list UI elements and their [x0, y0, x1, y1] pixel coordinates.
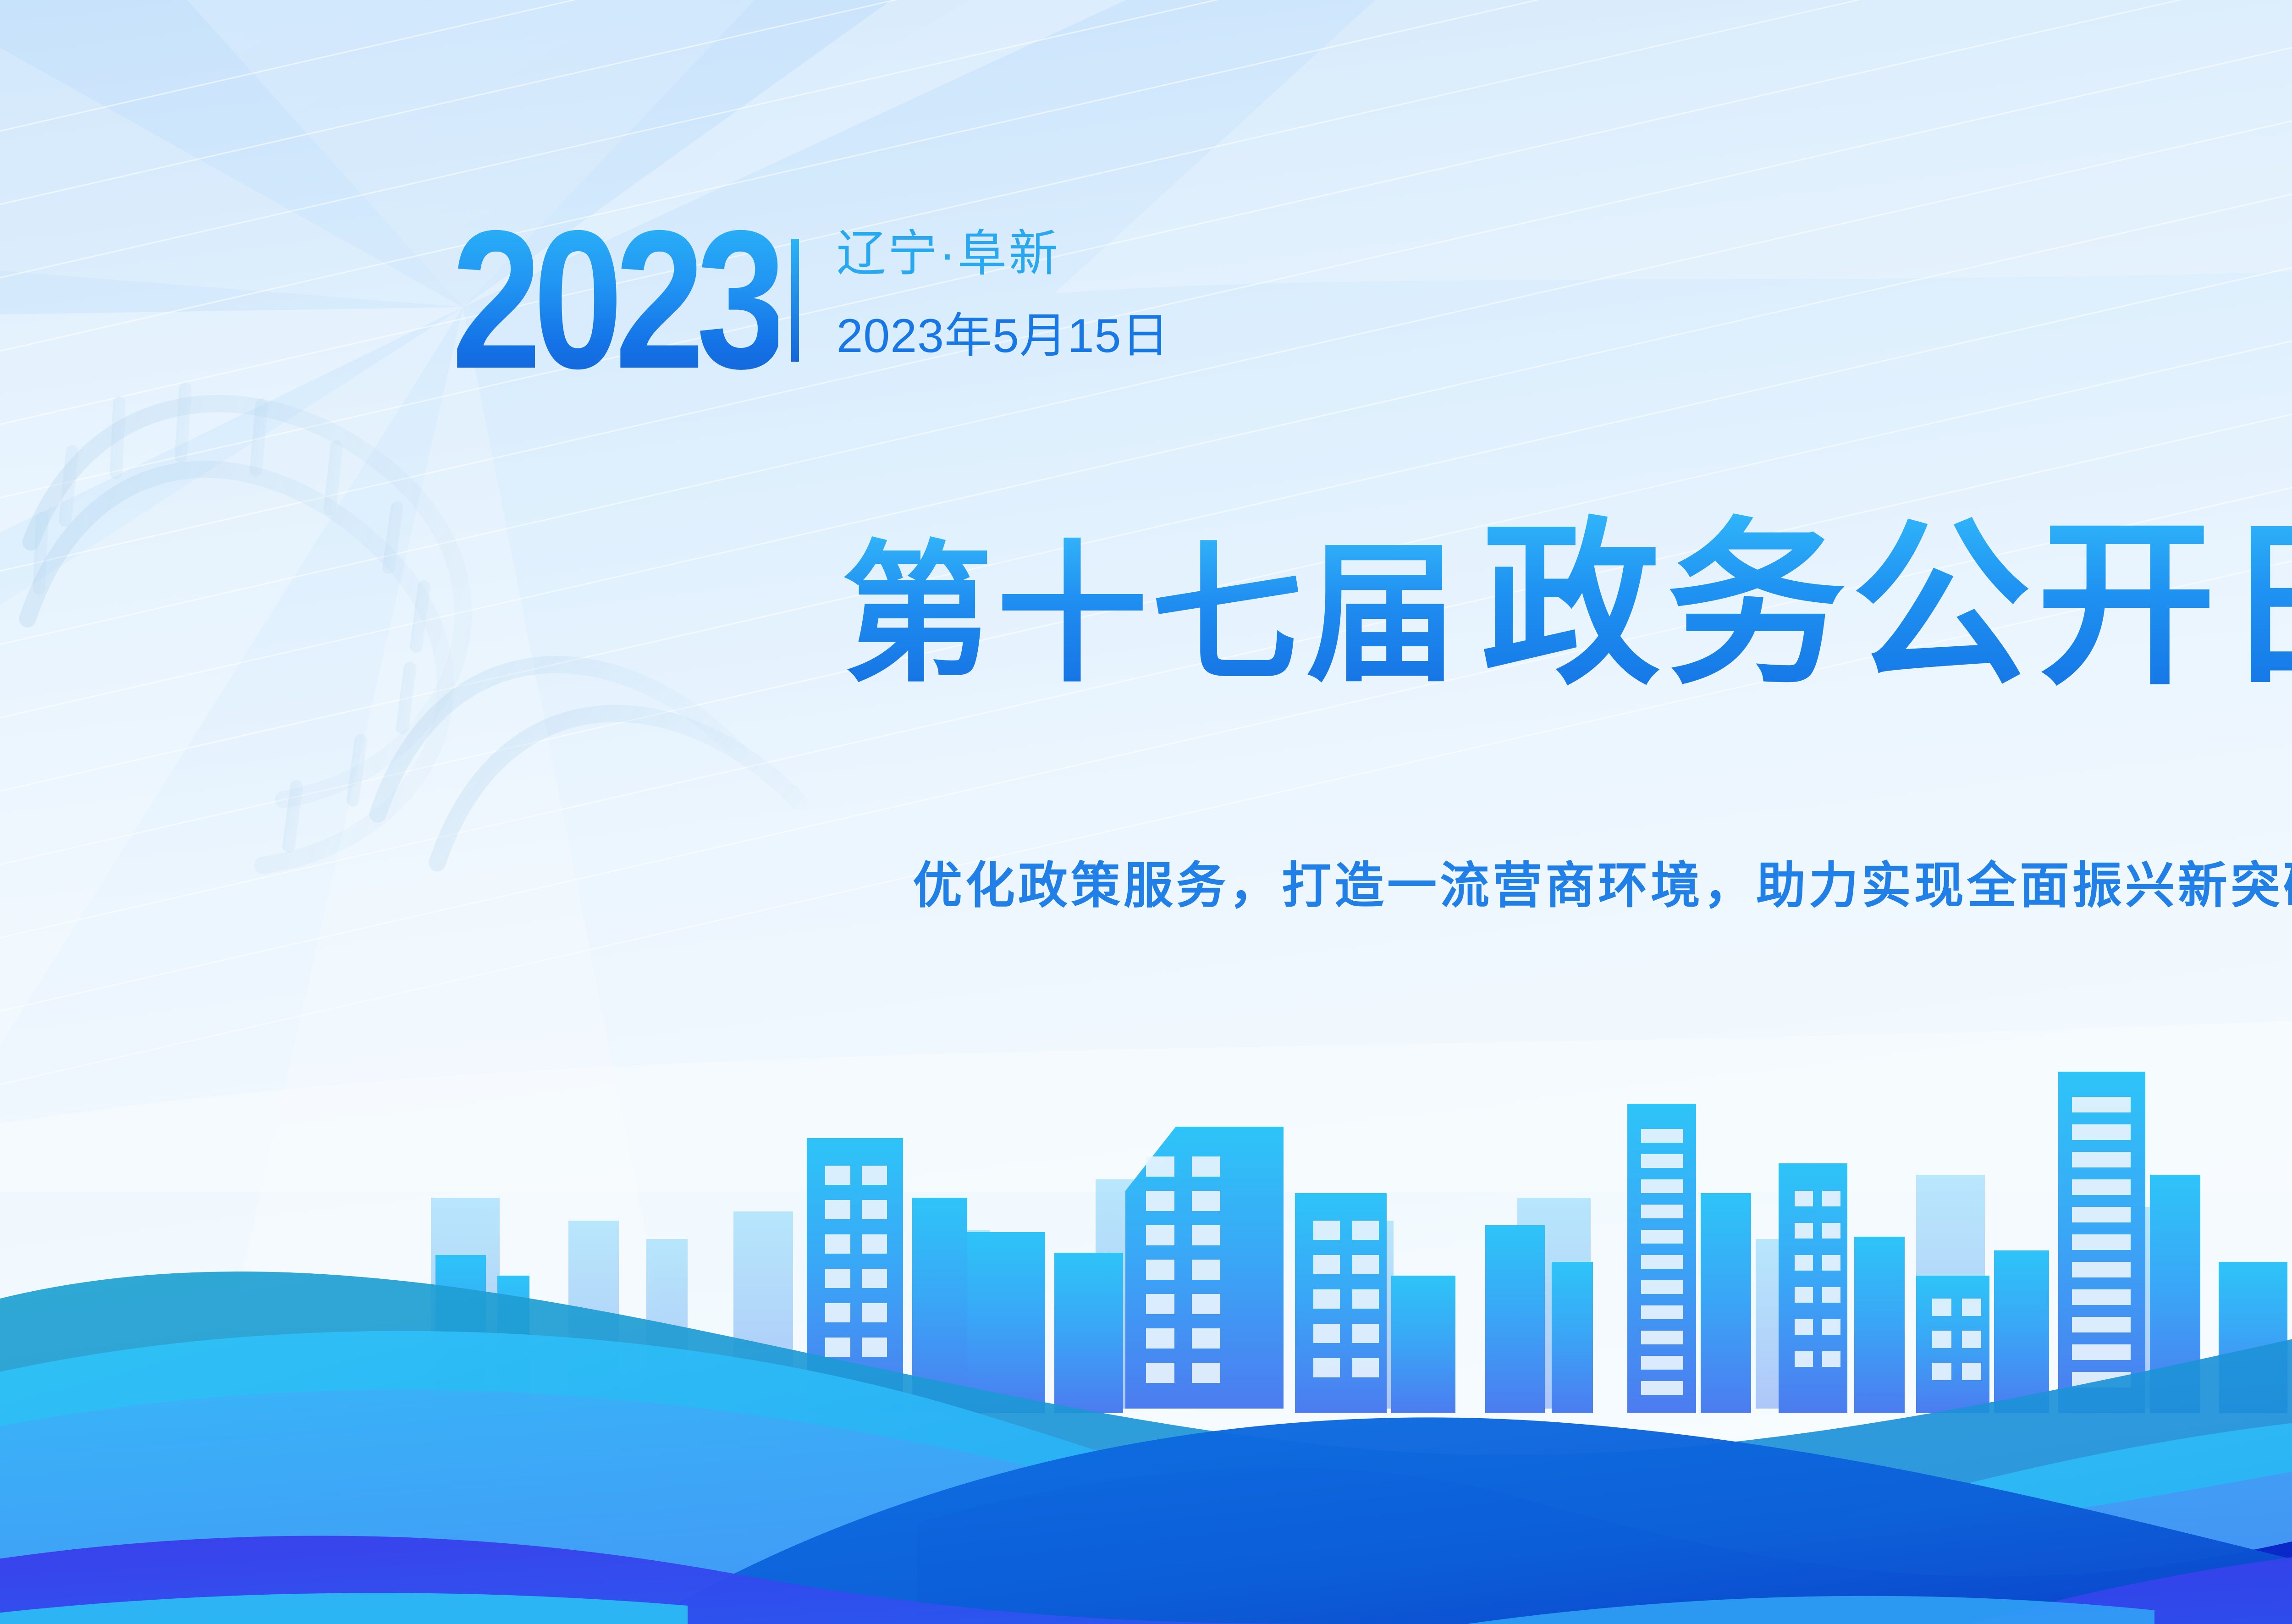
title-edition: 第十七届	[842, 530, 1461, 699]
event-location: 辽宁·阜新	[837, 229, 1170, 278]
page-title: 第十七届政务公开日	[0, 516, 2292, 694]
page-subtitle: 优化政策服务，打造一流营商环境，助力实现全面振兴新突破	[0, 846, 2292, 917]
year-logo: 2023	[452, 213, 778, 386]
event-meta: 辽宁·阜新 2023年5月15日	[837, 229, 1170, 360]
skyline-and-waves	[0, 982, 2292, 1624]
title-main: 政务公开日	[1482, 505, 2292, 705]
vertical-divider	[791, 239, 799, 362]
poster-canvas: 2023 辽宁·阜新 2023年5月15日 第十七届政务公开日 优化政策服务，打…	[0, 0, 2292, 1624]
event-date: 2023年5月15日	[837, 312, 1170, 360]
header-block: 2023 辽宁·阜新 2023年5月15日	[452, 213, 1169, 386]
